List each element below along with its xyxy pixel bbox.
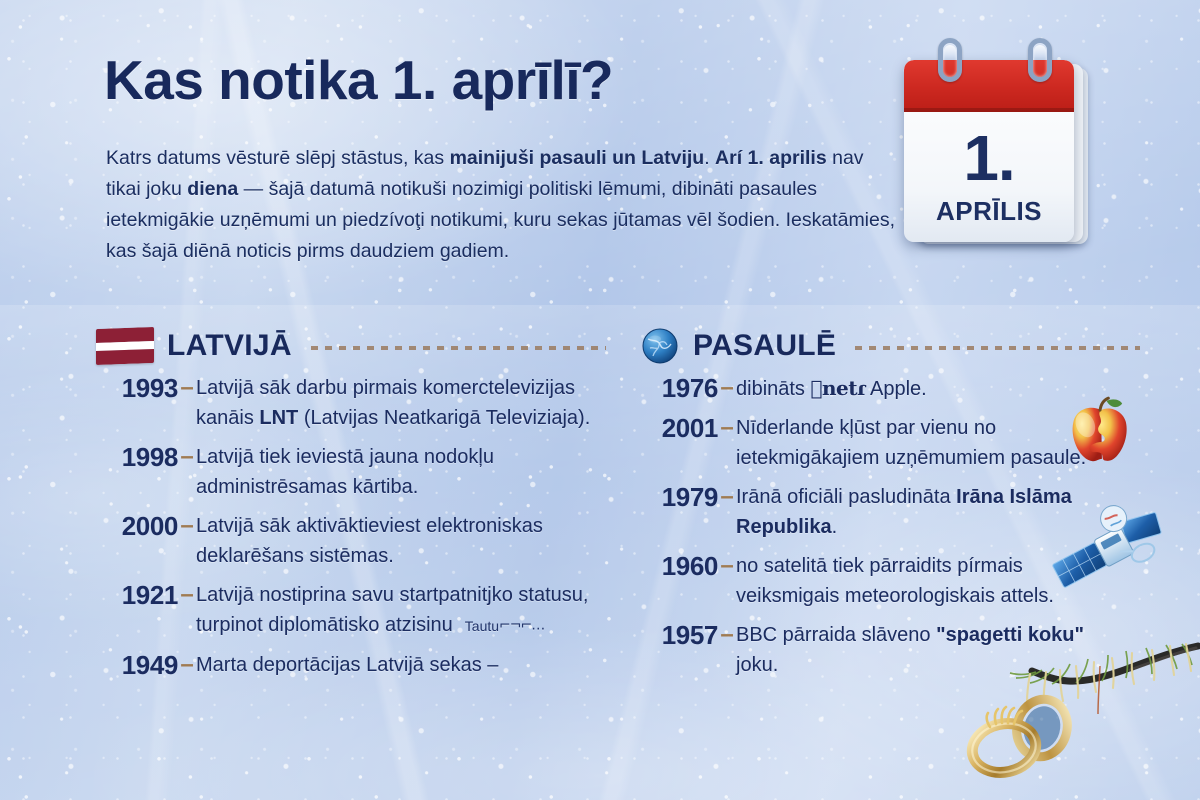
section-header-latvija: LATVIJĀ xyxy=(96,325,606,367)
entry-text-part: (Latvijas Neatkarigā Televiziaja). xyxy=(298,407,590,429)
calendar-month: APRĪLIS xyxy=(904,196,1074,227)
entry-dash: – xyxy=(718,620,736,650)
entry-text: Marta deportācijas Latvijā sekas – xyxy=(196,650,606,680)
calendar-ring-left xyxy=(938,38,962,82)
section-latvija: LATVIJĀ 1993 – Latvijā sāk darbu pirmais… xyxy=(96,325,606,689)
entry-dash: – xyxy=(718,482,736,512)
flag-stripe-bottom xyxy=(96,349,154,365)
entry-dash: – xyxy=(178,373,196,403)
wedding-rings-image xyxy=(960,690,1090,782)
entry-text-part: Irānā oficiāli pasludināta xyxy=(736,486,956,508)
entry-year: 1921 xyxy=(96,580,178,610)
entry-dash: – xyxy=(718,551,736,581)
entry-year: 1949 xyxy=(96,650,178,680)
entry-year: 2000 xyxy=(96,511,178,541)
section-divider-dots-latvija xyxy=(311,346,606,350)
entry-year: 1976 xyxy=(640,373,718,403)
list-item: 1993 – Latvijā sāk darbu pirmais komerct… xyxy=(96,373,606,433)
intro-line1-bold: mainijuši pasauli un Latviju xyxy=(450,147,705,169)
entry-text: Latvijā sāk darbu pirmais komerctelevizi… xyxy=(196,373,606,433)
apple-logo-icon:  xyxy=(811,376,823,400)
calendar-icon: 1. APRĪLIS xyxy=(890,30,1105,265)
entry-text: Irānā oficiāli pasludināta Irāna Islāma … xyxy=(736,482,1096,542)
page-title: Kas notika 1. aprīlī? xyxy=(104,52,613,109)
entry-trailing-glyph-icon: ⌐¬⌐… xyxy=(499,618,544,634)
entry-dash: – xyxy=(718,413,736,443)
list-item: 1998 – Latvijā tiek ieviestā jauna nodok… xyxy=(96,442,606,502)
entry-text: no satelitā tiek pārraidits pírmais veik… xyxy=(736,551,1096,611)
entry-text: Latvijā tiek ieviestā jauna nodokļu admi… xyxy=(196,442,606,502)
bitten-apple-image xyxy=(1055,388,1147,480)
intro-line1-b: . xyxy=(704,147,709,169)
list-item: 1949 – Marta deportācijas Latvijā sekas … xyxy=(96,650,606,680)
entry-dash: – xyxy=(178,442,196,472)
entry-text-part: Apple. xyxy=(866,378,927,400)
entry-year: 1998 xyxy=(96,442,178,472)
entry-dash: – xyxy=(178,511,196,541)
list-item: 1921 – Latvijā nostiprina savu startpatn… xyxy=(96,580,606,641)
entry-dash: – xyxy=(178,650,196,680)
entry-year: 1993 xyxy=(96,373,178,403)
entry-year: 1957 xyxy=(640,620,718,650)
latvia-flag-icon xyxy=(96,327,154,365)
intro-paragraph: Katrs datums vēsturē slēpj stāstus, kas … xyxy=(106,143,896,267)
list-item: 2000 – Latvijā sāk aktivāktieviest elekt… xyxy=(96,511,606,571)
section-divider-dots-pasaule xyxy=(855,346,1140,350)
section-title-latvija: LATVIJĀ xyxy=(167,329,292,363)
entry-text-part: dibināts xyxy=(736,378,811,400)
intro-line2-bold-b: diena xyxy=(187,178,238,200)
entry-text: Latvijā sāk aktivāktieviest elektroniska… xyxy=(196,511,606,571)
intro-line1-a: Katrs datums vēsturē slēpj stāstus, kas xyxy=(106,147,450,169)
globe-icon xyxy=(640,326,680,366)
intro-line2-bold-a: Arí 1. aprilis xyxy=(715,147,827,169)
entry-year: 1979 xyxy=(640,482,718,512)
entry-text-part: joku. xyxy=(736,654,778,676)
calendar-ring-right xyxy=(1028,38,1052,82)
section-header-pasaule: PASAULĒ xyxy=(640,325,1140,367)
satellite-image xyxy=(1043,490,1176,611)
entry-year: 1960 xyxy=(640,551,718,581)
entry-text: dibināts netɾ Apple. xyxy=(736,373,1096,404)
entry-list-latvija: 1993 – Latvijā sāk darbu pirmais komerct… xyxy=(96,373,606,680)
entry-dash: – xyxy=(718,373,736,403)
entry-text: Latvijā nostiprina savu startpatnitjko s… xyxy=(196,580,606,641)
section-title-pasaule: PASAULĒ xyxy=(693,329,836,363)
entry-text-part: . xyxy=(832,516,838,538)
infographic-page: Kas notika 1. aprīlī? Katrs datums vēstu… xyxy=(0,0,1200,800)
entry-trailing-label: Tautu xyxy=(465,618,499,634)
entry-year: 2001 xyxy=(640,413,718,443)
calendar-day: 1. xyxy=(904,126,1074,190)
entry-dash: – xyxy=(178,580,196,610)
entry-text-part: BBC pārraida slāveno xyxy=(736,624,936,646)
entry-text: Nīderlande kļūst par vienu no ietekmigāk… xyxy=(736,413,1096,473)
apple-logo-glyph-icon: ɾ xyxy=(857,376,866,400)
calendar-front-page: 1. APRĪLIS xyxy=(904,60,1074,242)
entry-logo-text: net xyxy=(822,376,857,400)
entry-text-bold: LNT xyxy=(259,407,298,429)
